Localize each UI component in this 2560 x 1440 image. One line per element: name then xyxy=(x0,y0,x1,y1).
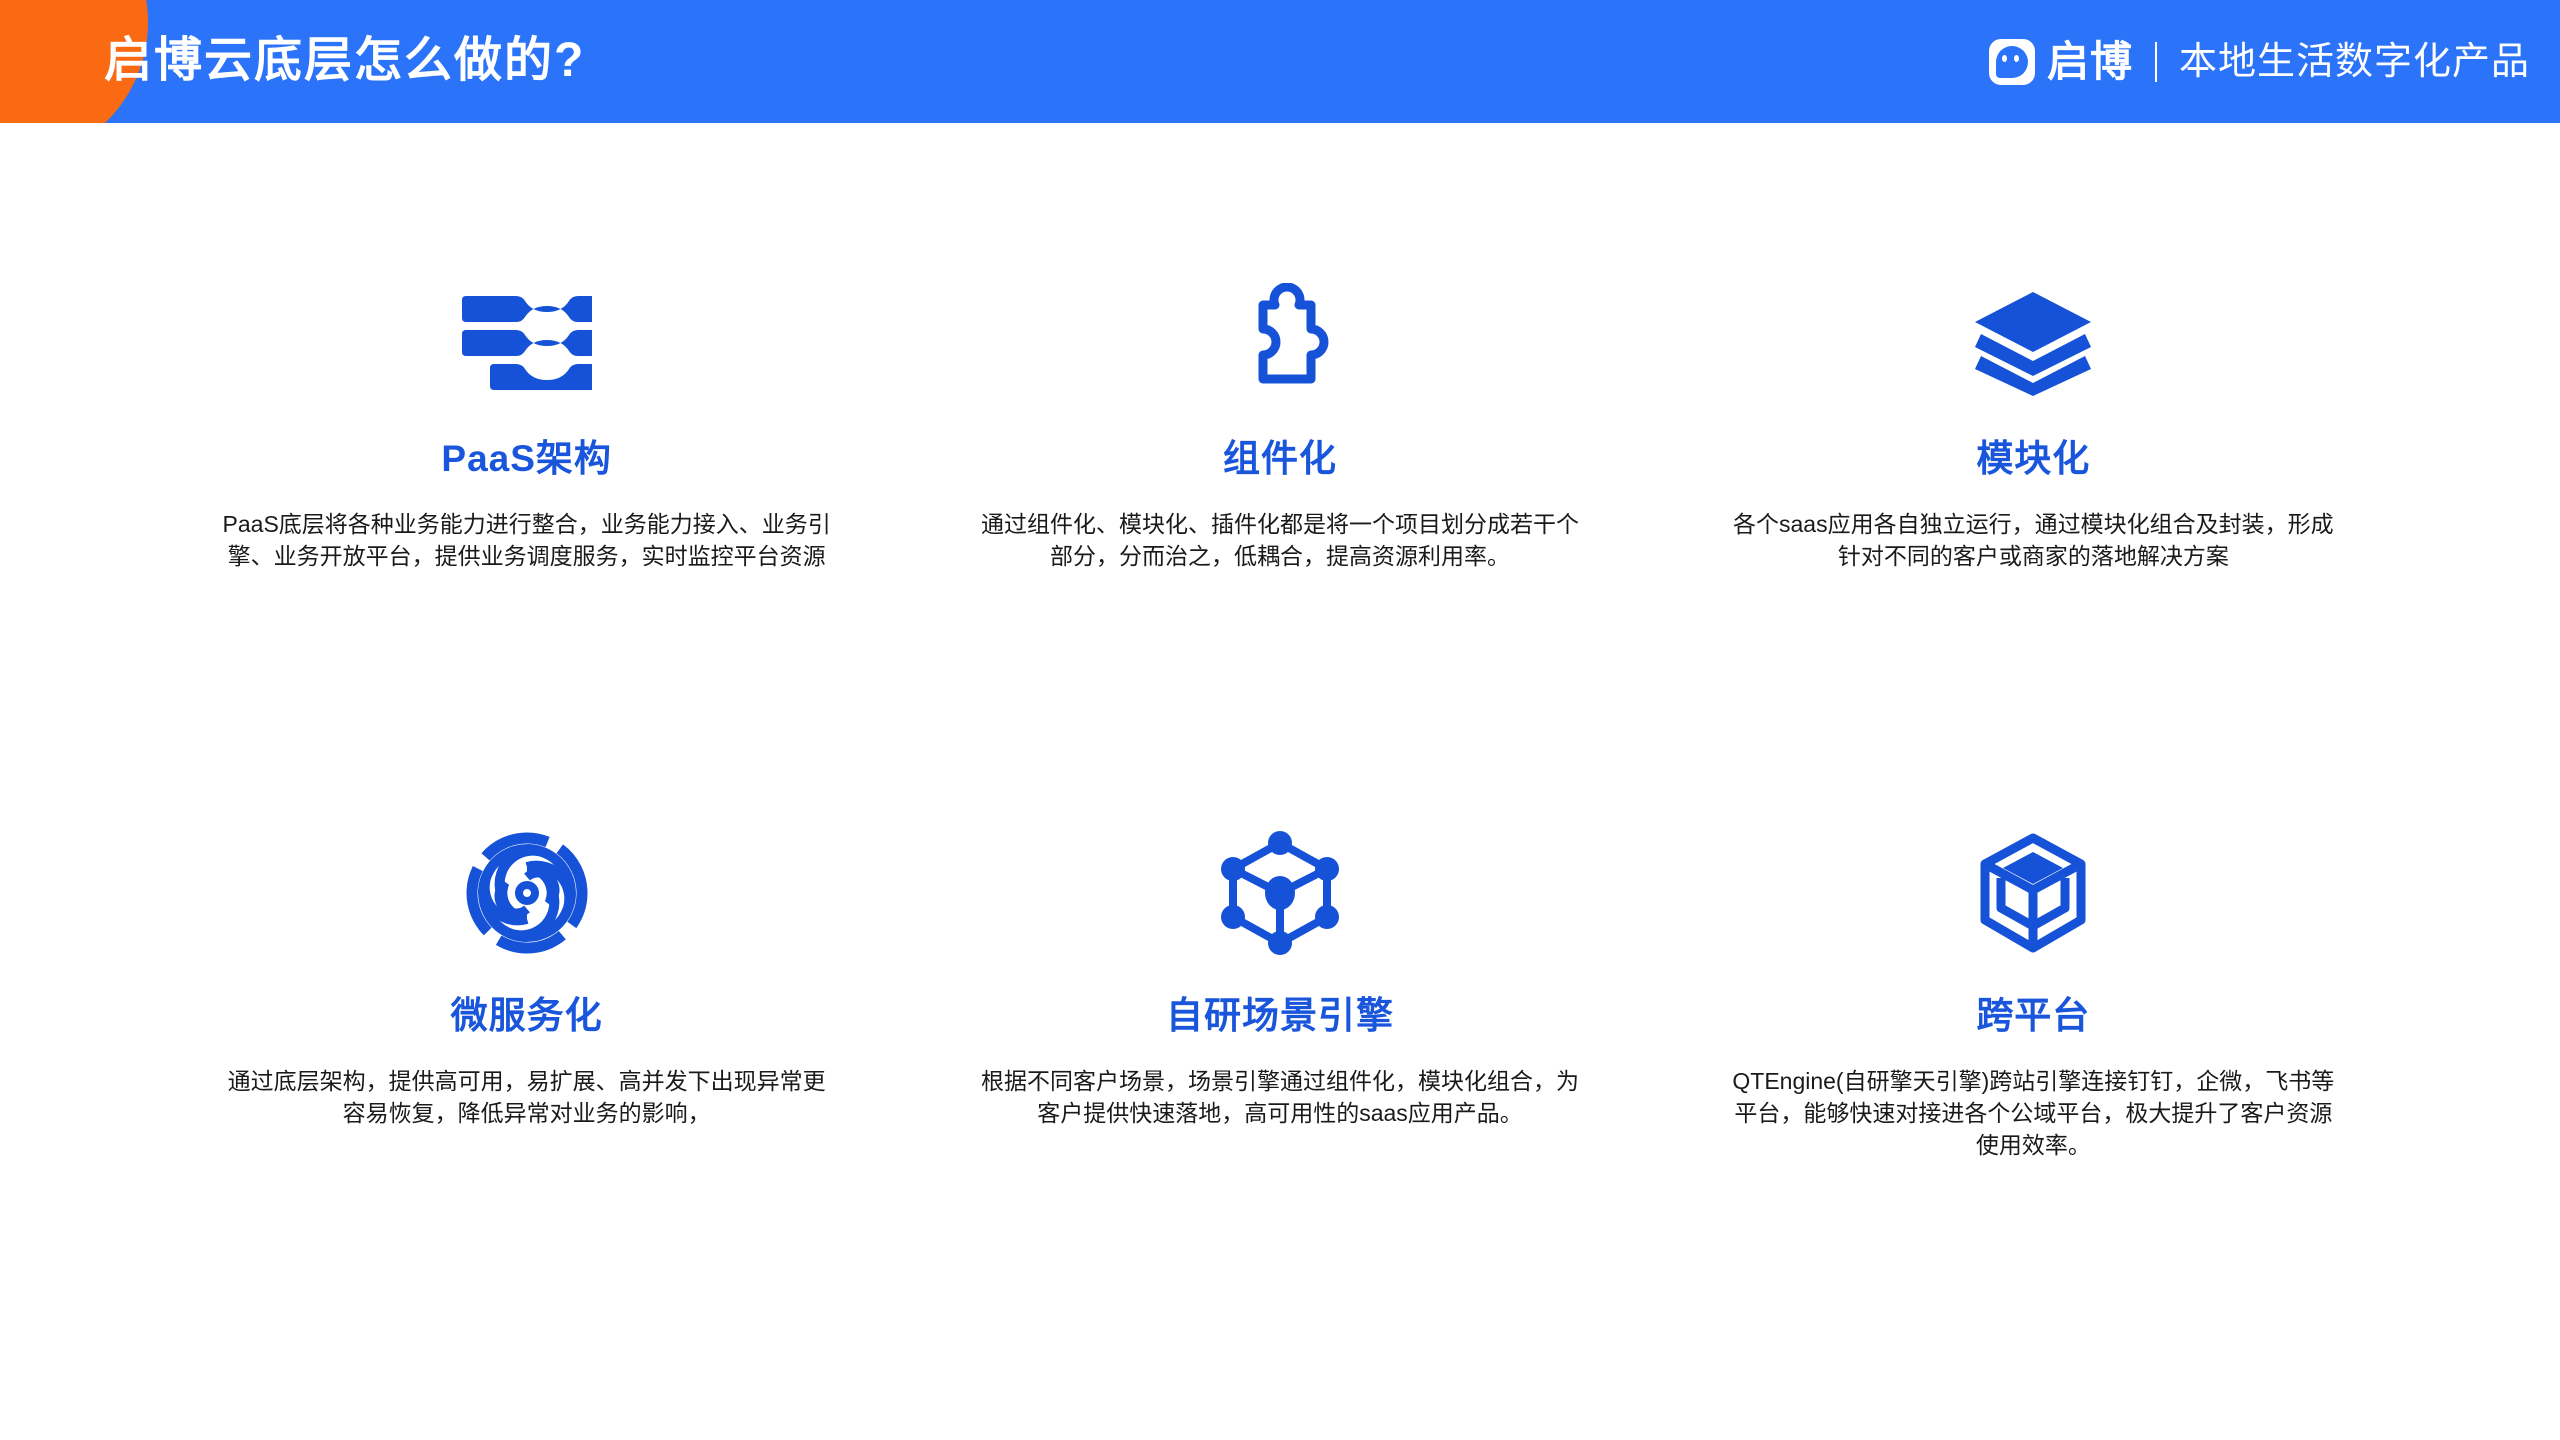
card-title: 自研场景引擎 xyxy=(1166,985,1394,1039)
page-header: 启博云底层怎么做的? 启博 本地生活数字化产品 xyxy=(0,0,2560,123)
feature-card-microservices: 微服务化 通过底层架构，提供高可用，易扩展、高并发下出现异常更容易恢复，降低异常… xyxy=(150,823,903,1368)
decorative-circle-small xyxy=(40,62,83,105)
logo-eye-left xyxy=(2002,55,2007,62)
network-node-cube-icon xyxy=(1219,823,1341,963)
feature-card-scene-engine: 自研场景引擎 根据不同客户场景，场景引擎通过组件化，模块化组合，为客户提供快速落… xyxy=(903,823,1656,1368)
logo-eye-right xyxy=(2014,55,2019,62)
card-description: 通过组件化、模块化、插件化都是将一个项目划分成若干个部分，分而治之，低耦合，提高… xyxy=(975,508,1584,572)
feature-card-grid: PaaS架构 PaaS底层将各种业务能力进行整合，业务能力接入、业务引擎、业务开… xyxy=(0,123,2560,1440)
card-description: 各个saas应用各自独立运行，通过模块化组合及封装，形成针对不同的客户或商家的落… xyxy=(1729,508,2338,572)
layers-stack-icon xyxy=(1971,278,2095,408)
page-title: 启博云底层怎么做的? xyxy=(104,17,585,105)
stacked-bars-icon xyxy=(462,278,592,408)
card-title: 模块化 xyxy=(1976,428,2090,482)
card-description: PaaS底层将各种业务能力进行整合，业务能力接入、业务引擎、业务开放平台，提供业… xyxy=(222,508,831,572)
card-description: QTEngine(自研擎天引擎)跨站引擎连接钉钉，企微，飞书等平台，能够快速对接… xyxy=(1729,1065,2338,1161)
open-box-cube-icon xyxy=(1971,823,2095,963)
feature-card-modularization: 模块化 各个saas应用各自独立运行，通过模块化组合及封装，形成针对不同的客户或… xyxy=(1657,278,2410,823)
card-description: 根据不同客户场景，场景引擎通过组件化，模块化组合，为客户提供快速落地，高可用性的… xyxy=(975,1065,1584,1129)
speech-bubble-shape xyxy=(1996,46,2028,78)
brand-lockup: 启博 本地生活数字化产品 xyxy=(1989,0,2530,123)
brand-divider xyxy=(2155,42,2157,82)
card-title: 组件化 xyxy=(1223,428,1337,482)
card-title: 跨平台 xyxy=(1976,985,2090,1039)
puzzle-piece-icon xyxy=(1225,278,1335,408)
brand-tagline: 本地生活数字化产品 xyxy=(2179,43,2530,81)
feature-card-paas: PaaS架构 PaaS底层将各种业务能力进行整合，业务能力接入、业务引擎、业务开… xyxy=(150,278,903,823)
spiral-vortex-icon xyxy=(465,823,589,963)
card-title: PaaS架构 xyxy=(441,428,612,482)
feature-card-cross-platform: 跨平台 QTEngine(自研擎天引擎)跨站引擎连接钉钉，企微，飞书等平台，能够… xyxy=(1657,823,2410,1368)
brand-logo-icon xyxy=(1989,39,2035,85)
card-title: 微服务化 xyxy=(451,985,603,1039)
brand-name: 启博 xyxy=(2047,41,2133,83)
feature-card-componentization: 组件化 通过组件化、模块化、插件化都是将一个项目划分成若干个部分，分而治之，低耦… xyxy=(903,278,1656,823)
card-description: 通过底层架构，提供高可用，易扩展、高并发下出现异常更容易恢复，降低异常对业务的影… xyxy=(222,1065,831,1129)
